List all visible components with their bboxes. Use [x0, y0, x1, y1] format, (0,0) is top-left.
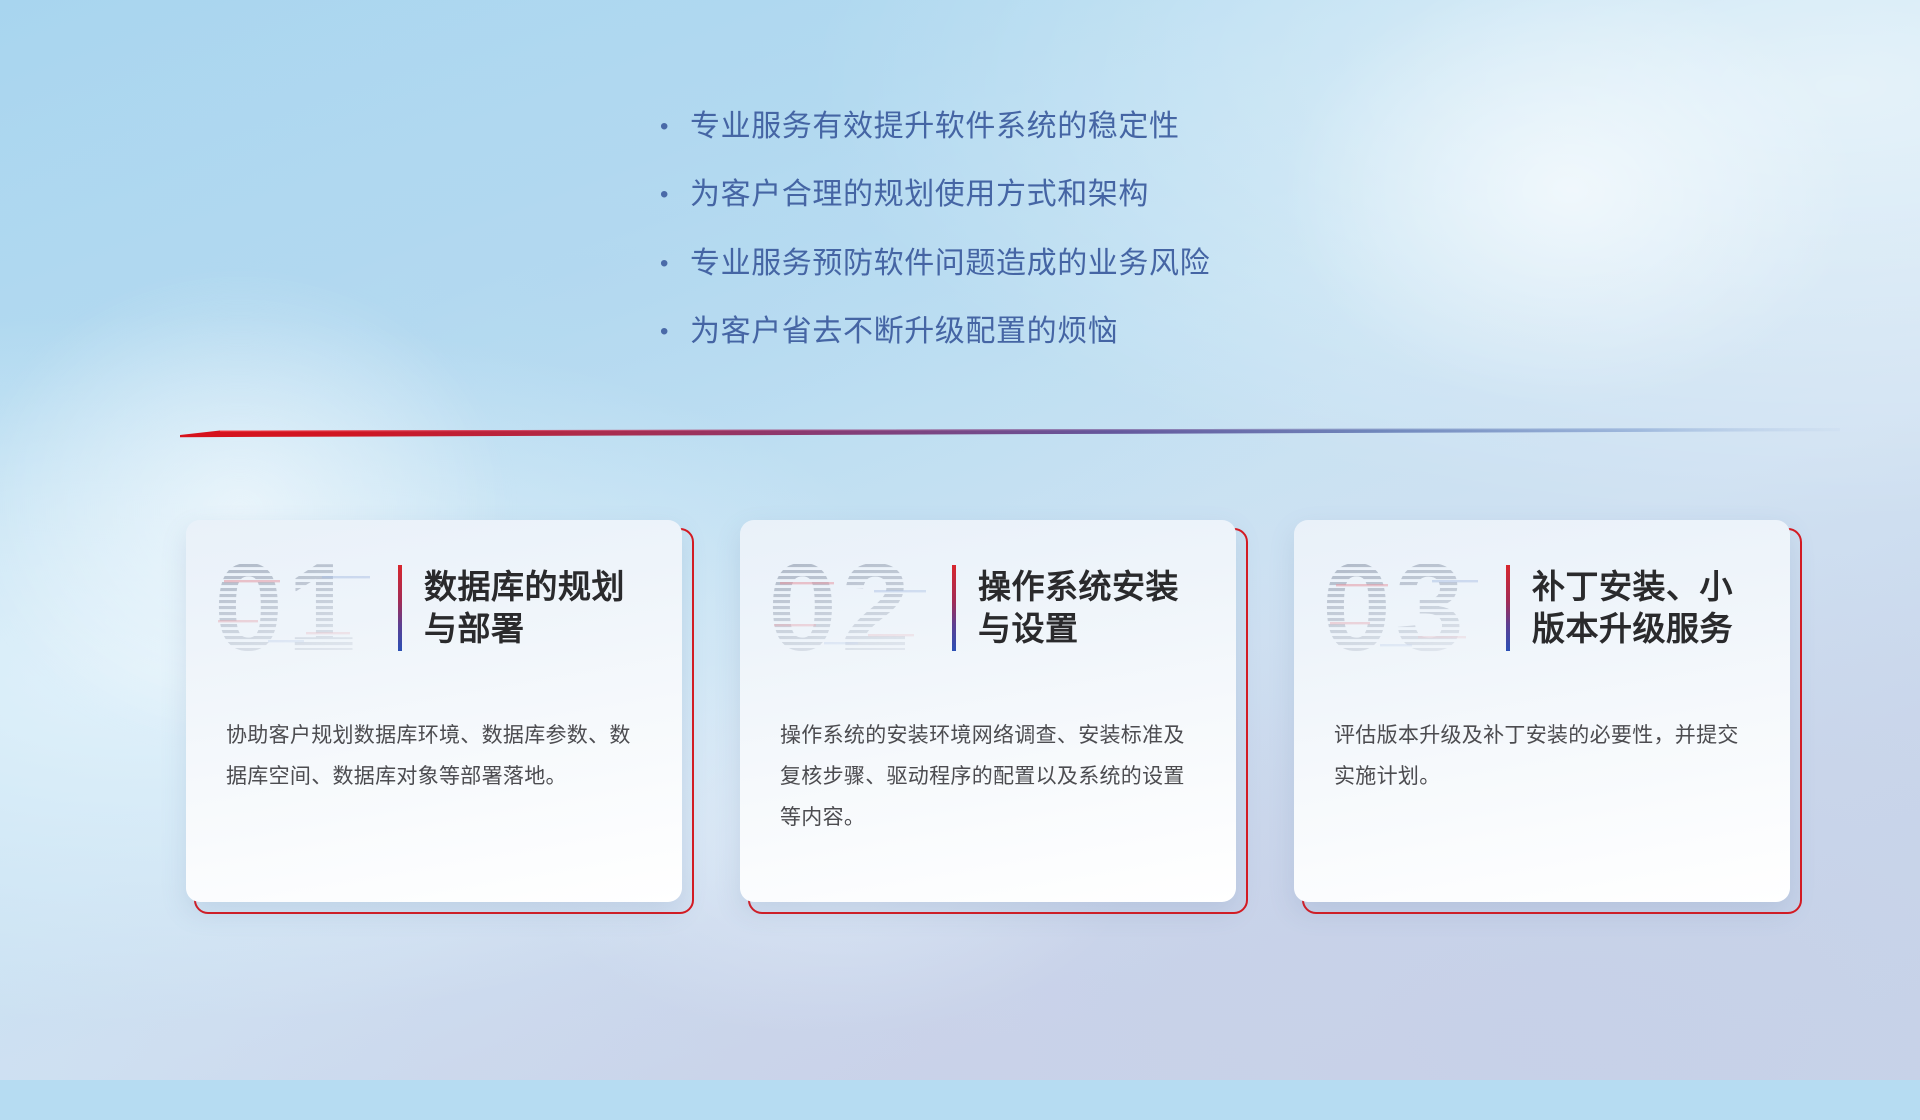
list-item: • 专业服务有效提升软件系统的稳定性	[660, 108, 1210, 146]
divider-wedge-icon	[180, 424, 1840, 440]
svg-text:02: 02	[768, 546, 914, 670]
card-header: 03 补丁安装、小 版本升级服务	[1294, 544, 1790, 672]
list-item: • 专业服务预防软件问题造成的业务风险	[660, 245, 1210, 283]
service-card-03[interactable]: 03 补丁安装、小 版本升级服务 评估版本升级及补丁安装的必要性，并提交实施	[1294, 520, 1790, 902]
bullet-dot-icon: •	[660, 183, 690, 207]
card-accent-bar	[398, 565, 402, 651]
card-number-watermark: 01	[210, 546, 396, 670]
card-number-watermark: 02	[764, 546, 950, 670]
slide-stage: • 专业服务有效提升软件系统的稳定性 • 为客户合理的规划使用方式和架构 • 专…	[0, 0, 1920, 1080]
card-number-watermark: 03	[1318, 546, 1504, 670]
card-description: 协助客户规划数据库环境、数据库参数、数据库空间、数据库对象等部署落地。	[226, 716, 646, 798]
service-card-deck: 01 数据库的规划 与部署 协助客户规划数据库环境、数据库参数、数据库空间、	[186, 520, 1790, 902]
card-title: 补丁安装、小 版本升级服务	[1532, 566, 1743, 650]
bullet-text: 专业服务预防软件问题造成的业务风险	[690, 245, 1210, 283]
list-item: • 为客户省去不断升级配置的烦恼	[660, 313, 1210, 351]
card-accent-bar	[1506, 565, 1510, 651]
card-header: 01 数据库的规划 与部署	[186, 544, 682, 672]
bullet-dot-icon: •	[660, 115, 690, 139]
benefits-bullet-list: • 专业服务有效提升软件系统的稳定性 • 为客户合理的规划使用方式和架构 • 专…	[660, 108, 1210, 382]
card-title: 数据库的规划 与部署	[424, 566, 635, 650]
card-surface: 03 补丁安装、小 版本升级服务 评估版本升级及补丁安装的必要性，并提交实施	[1294, 520, 1790, 902]
bullet-dot-icon: •	[660, 252, 690, 276]
card-description: 评估版本升级及补丁安装的必要性，并提交实施计划。	[1334, 716, 1754, 798]
svg-text:03: 03	[1322, 546, 1468, 670]
svg-text:01: 01	[214, 546, 360, 670]
bullet-text: 为客户合理的规划使用方式和架构	[690, 176, 1149, 214]
service-card-02[interactable]: 02 操作系统安装 与设置 操作系统的安装环境网络调查、安装标准及复核步骤、	[740, 520, 1236, 902]
striped-number-icon: 01	[210, 546, 396, 670]
bullet-dot-icon: •	[660, 320, 690, 344]
bullet-text: 为客户省去不断升级配置的烦恼	[690, 313, 1118, 351]
section-divider	[180, 424, 1840, 440]
striped-number-icon: 02	[764, 546, 950, 670]
card-title: 操作系统安装 与设置	[978, 566, 1189, 650]
striped-number-icon: 03	[1318, 546, 1504, 670]
list-item: • 为客户合理的规划使用方式和架构	[660, 176, 1210, 214]
service-card-01[interactable]: 01 数据库的规划 与部署 协助客户规划数据库环境、数据库参数、数据库空间、	[186, 520, 682, 902]
card-accent-bar	[952, 565, 956, 651]
bullet-text: 专业服务有效提升软件系统的稳定性	[690, 108, 1180, 146]
card-description: 操作系统的安装环境网络调查、安装标准及复核步骤、驱动程序的配置以及系统的设置等内…	[780, 716, 1200, 839]
card-surface: 02 操作系统安装 与设置 操作系统的安装环境网络调查、安装标准及复核步骤、	[740, 520, 1236, 902]
card-surface: 01 数据库的规划 与部署 协助客户规划数据库环境、数据库参数、数据库空间、	[186, 520, 682, 902]
card-header: 02 操作系统安装 与设置	[740, 544, 1236, 672]
